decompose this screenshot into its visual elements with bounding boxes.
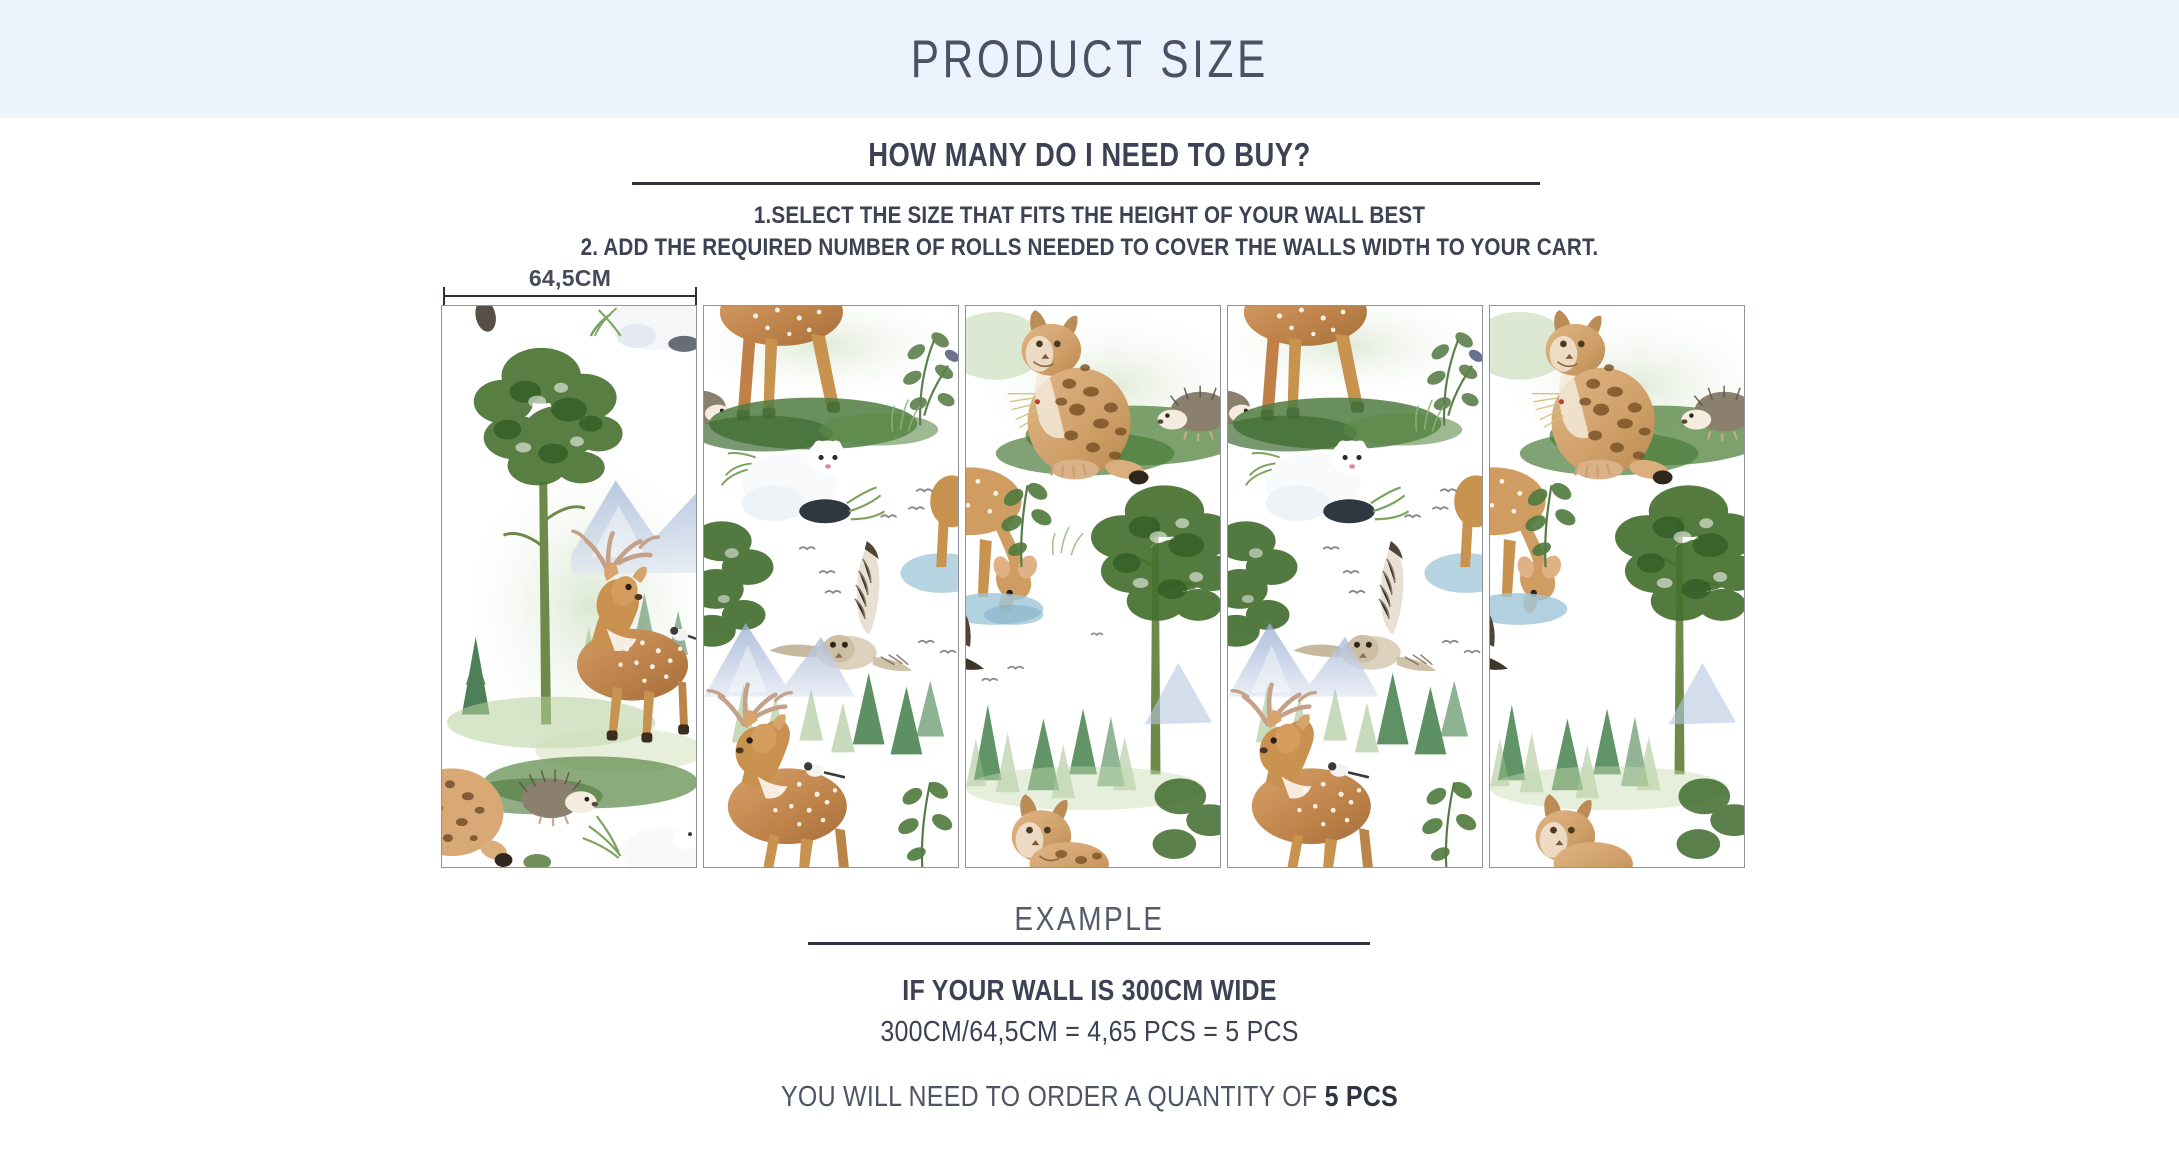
wallpaper-art-c xyxy=(966,306,1220,867)
wallpaper-art-b xyxy=(704,306,958,867)
example-title: EXAMPLE xyxy=(163,900,2015,938)
wallpaper-art-c-repeat xyxy=(1490,306,1744,867)
example-line-2: 300CM/64,5CM = 4,65 PCS = 5 PCS xyxy=(153,1016,2027,1049)
instruction-line-2: 2. ADD THE REQUIRED NUMBER OF ROLLS NEED… xyxy=(153,232,2027,264)
dimension-label: 64,5CM xyxy=(443,265,697,292)
divider-example xyxy=(808,942,1370,945)
product-size-infographic: PRODUCT SIZE HOW MANY DO I NEED TO BUY? … xyxy=(0,0,2179,1165)
divider-top xyxy=(632,182,1540,185)
wallpaper-panel-5[interactable] xyxy=(1489,305,1745,868)
example-line-3: YOU WILL NEED TO ORDER A QUANTITY OF 5 P… xyxy=(153,1081,2027,1114)
wallpaper-panel-4[interactable] xyxy=(1227,305,1483,868)
example-quantity-bold: 5 PCS xyxy=(1325,1081,1398,1113)
page-title: PRODUCT SIZE xyxy=(910,29,1268,90)
example-body: IF YOUR WALL IS 300CM WIDE 300CM/64,5CM … xyxy=(0,975,2179,1114)
wallpaper-panel-2[interactable] xyxy=(703,305,959,868)
section-subheading: HOW MANY DO I NEED TO BUY? xyxy=(185,136,1994,174)
wallpaper-panel-strip xyxy=(441,305,1737,868)
wallpaper-art-b-repeat xyxy=(1228,306,1482,867)
example-line-1: IF YOUR WALL IS 300CM WIDE xyxy=(153,975,2027,1008)
wallpaper-panel-1[interactable] xyxy=(441,305,697,868)
dimension-tick-left xyxy=(443,287,445,305)
dimension-line xyxy=(443,295,697,297)
wallpaper-panel-3[interactable] xyxy=(965,305,1221,868)
instructions-block: 1.SELECT THE SIZE THAT FITS THE HEIGHT O… xyxy=(0,200,2179,264)
example-line-3-prefix: YOU WILL NEED TO ORDER A QUANTITY OF xyxy=(781,1081,1325,1113)
wallpaper-art-a xyxy=(442,306,696,867)
header-band: PRODUCT SIZE xyxy=(0,0,2179,118)
dimension-tick-right xyxy=(695,287,697,305)
instruction-line-1: 1.SELECT THE SIZE THAT FITS THE HEIGHT O… xyxy=(153,200,2027,232)
